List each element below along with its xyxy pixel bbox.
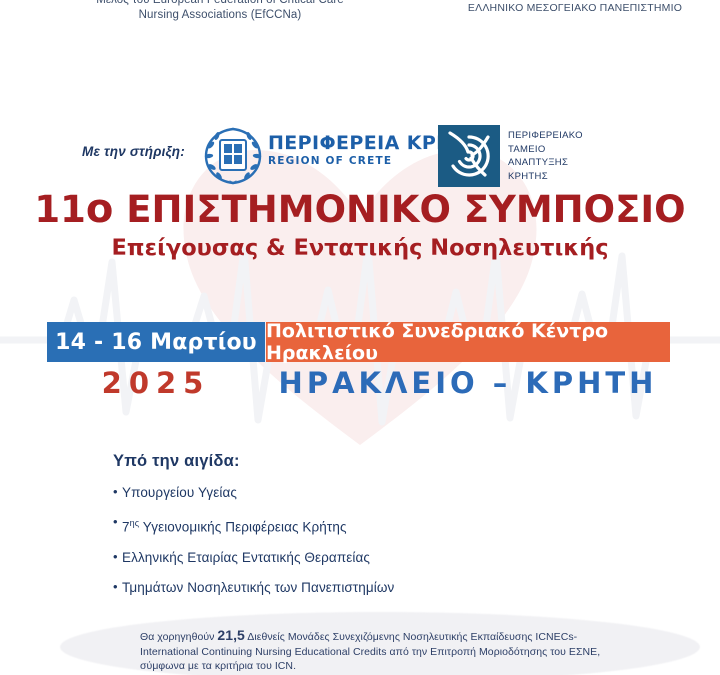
- fund-line-4: ΚΡΗΤΗΣ: [508, 170, 583, 184]
- list-item: •Τμημάτων Νοσηλευτικής των Πανεπιστημίων: [113, 580, 543, 596]
- auspices-item-text: Τμημάτων Νοσηλευτικής των Πανεπιστημίων: [122, 580, 394, 595]
- event-title-block: 11ο ΕΠΙΣΤΗΜΟΝΙΚΟ ΣΥΜΠΟΣΙΟ Επείγουσας & Ε…: [0, 188, 720, 263]
- title-main: ΕΠΙΣΤΗΜΟΝΙΚΟ ΣΥΜΠΟΣΙΟ: [126, 188, 685, 231]
- banner-row: 14 - 16 Μαρτίου Πολιτιστικό Συνεδριακό Κ…: [0, 322, 720, 362]
- fund-line-1: ΠΕΡΙΦΕΡΕΙΑΚΟ: [508, 129, 583, 143]
- event-dates-banner: 14 - 16 Μαρτίου: [47, 322, 265, 362]
- support-label: Με την στήριξη:: [82, 144, 185, 159]
- sponsors-row: Με την στήριξη:: [0, 62, 720, 132]
- credits-prefix: Θα χορηγηθούν: [140, 631, 217, 643]
- banner-subrow: 2025 ΗΡΑΚΛΕΙΟ – ΚΡΗΤΗ: [0, 366, 720, 408]
- efccna-membership-note: Μέλος του European Federation of Critica…: [60, 0, 380, 23]
- regional-fund-spiral-icon: [438, 125, 500, 187]
- auspices-title: Υπό την αιγίδα:: [113, 452, 543, 471]
- auspices-item-ordinal: ης: [130, 518, 140, 528]
- university-name: ΕΛΛΗΝΙΚΟ ΜΕΣΟΓΕΙΑΚΟ ΠΑΝΕΠΙΣΤΗΜΙΟ: [440, 2, 710, 15]
- auspices-item-text: Ελληνικής Εταιρίας Εντατικής Θεραπείας: [122, 550, 370, 565]
- auspices-item-prefix: 7: [122, 520, 130, 535]
- event-city: ΗΡΑΚΛΕΙΟ – ΚΡΗΤΗ: [266, 366, 670, 400]
- list-item: •Υπουργείου Υγείας: [113, 485, 543, 501]
- list-item: •7ης Υγειονομικής Περιφέρειας Κρήτης: [113, 515, 543, 536]
- credits-value: 21,5: [217, 627, 244, 643]
- auspices-item-text: Υγειονομικής Περιφέρειας Κρήτης: [139, 520, 346, 535]
- event-year: 2025: [47, 366, 265, 400]
- edition-number: 11: [34, 188, 86, 231]
- page-title: 11ο ΕΠΙΣΤΗΜΟΝΙΚΟ ΣΥΜΠΟΣΙΟ: [0, 188, 720, 231]
- title-subtitle: Επείγουσας & Εντατικής Νοσηλευτικής: [0, 233, 720, 263]
- efccna-line-2: Nursing Associations (EfCCNa): [60, 8, 380, 23]
- title-main-spacer: [113, 188, 126, 231]
- list-item: •Ελληνικής Εταιρίας Εντατικής Θεραπείας: [113, 550, 543, 566]
- edition-ordinal: ο: [86, 186, 113, 232]
- top-header-strip: Μέλος του European Federation of Critica…: [0, 0, 720, 60]
- event-venue-banner: Πολιτιστικό Συνεδριακό Κέντρο Ηρακλείου: [266, 322, 670, 362]
- auspices-list: •Υπουργείου Υγείας •7ης Υγειονομικής Περ…: [113, 485, 543, 596]
- greek-state-emblem-icon: [202, 125, 264, 187]
- credits-note: Θα χορηγηθούν 21,5 Διεθνείς Μονάδες Συνε…: [140, 628, 610, 674]
- bullet-icon: •: [113, 579, 118, 595]
- bullet-icon: •: [113, 484, 118, 500]
- bullet-icon: •: [113, 549, 118, 565]
- auspices-section: Υπό την αιγίδα: •Υπουργείου Υγείας •7ης …: [113, 452, 543, 610]
- bullet-icon: •: [113, 514, 118, 530]
- poster-canvas: Μέλος του European Federation of Critica…: [0, 0, 720, 675]
- fund-line-2: ΤΑΜΕΙΟ: [508, 143, 583, 157]
- efccna-line-1: Μέλος του European Federation of Critica…: [60, 0, 380, 8]
- fund-line-3: ΑΝΑΠΤΥΞΗΣ: [508, 156, 583, 170]
- auspices-item-text: Υπουργείου Υγείας: [122, 485, 237, 500]
- regional-fund-name: ΠΕΡΙΦΕΡΕΙΑΚΟ ΤΑΜΕΙΟ ΑΝΑΠΤΥΞΗΣ ΚΡΗΤΗΣ: [508, 129, 583, 183]
